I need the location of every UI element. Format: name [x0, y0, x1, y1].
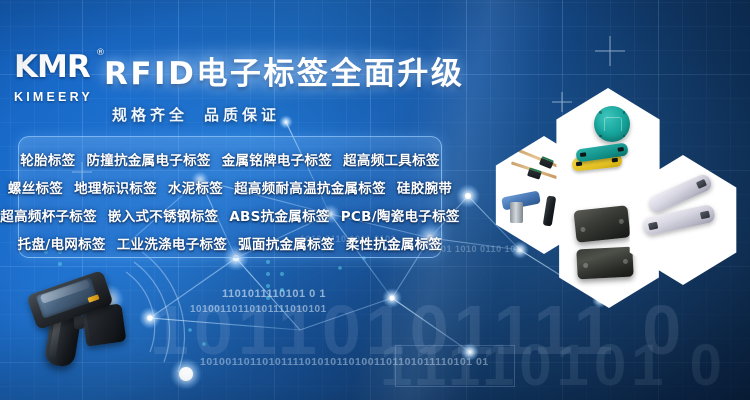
page-title: RFID电子标签全面升级 [104, 48, 464, 93]
product-item: PCB/陶瓷电子标签 [341, 205, 460, 225]
subtitle-part-2: 品质保证 [204, 106, 280, 124]
screw-tag-stem [510, 202, 523, 223]
product-item: 柔性抗金属标签 [346, 233, 443, 253]
product-item: 金属铭牌电子标签 [222, 149, 332, 169]
product-item: 超高频工具标签 [343, 149, 440, 169]
product-row: 轮胎标签 防撞抗金属电子标签 金属铭牌电子标签 超高频工具标签 [19, 145, 441, 173]
product-item: 轮胎标签 [20, 149, 75, 169]
product-row: 托盘/电网标签 工业洗涤电子标签 弧面抗金属标签 柔性抗金属标签 [19, 229, 441, 257]
handheld-rfid-reader [22, 272, 140, 384]
headline-container: RFID电子标签全面升级 [104, 48, 464, 93]
nail-tag-head [539, 156, 554, 169]
anti-metal-block-tag [576, 247, 633, 280]
reader-trigger [74, 316, 85, 330]
product-item: 硅胶腕带 [397, 177, 452, 197]
product-item: 嵌入式不锈钢标签 [108, 205, 218, 225]
product-item: 防撞抗金属电子标签 [86, 149, 210, 169]
reader-antenna-face [86, 308, 116, 341]
rfid-promo-banner: 10110101111 0 11110101 0 1101011110101 0… [0, 0, 750, 400]
product-item: 螺丝标签 [8, 177, 63, 197]
nail-tag-head [527, 167, 542, 180]
product-row: 超高频杯子标签 嵌入式不锈钢标签 ABS抗金属标签 PCB/陶瓷电子标签 [19, 201, 441, 229]
disc-rfid-tag [594, 106, 630, 142]
anti-metal-block-tag [573, 205, 630, 242]
product-item: 托盘/电网标签 [18, 233, 106, 253]
product-item: 弧面抗金属标签 [238, 233, 335, 253]
product-item: 水泥标签 [168, 177, 223, 197]
product-item: 超高频耐高温抗金属标签 [234, 177, 386, 197]
product-item: ABS抗金属标签 [229, 205, 329, 225]
product-item: 工业洗涤电子标签 [117, 233, 227, 253]
dark-rod-tag [543, 195, 557, 226]
product-item: 地理标识标签 [74, 177, 157, 197]
product-row: 螺丝标签 地理标识标签 水泥标签 超高频耐高温抗金属标签 硅胶腕带 [19, 173, 441, 201]
product-item: 超高频杯子标签 [0, 205, 97, 225]
logo-mark-text: KMR [14, 49, 90, 85]
subtitle-part-1: 规格齐全 [112, 106, 188, 124]
product-list-panel: 轮胎标签 防撞抗金属电子标签 金属铭牌电子标签 超高频工具标签 螺丝标签 地理标… [18, 136, 442, 258]
subtitle: 规格齐全品质保证 [112, 104, 280, 125]
